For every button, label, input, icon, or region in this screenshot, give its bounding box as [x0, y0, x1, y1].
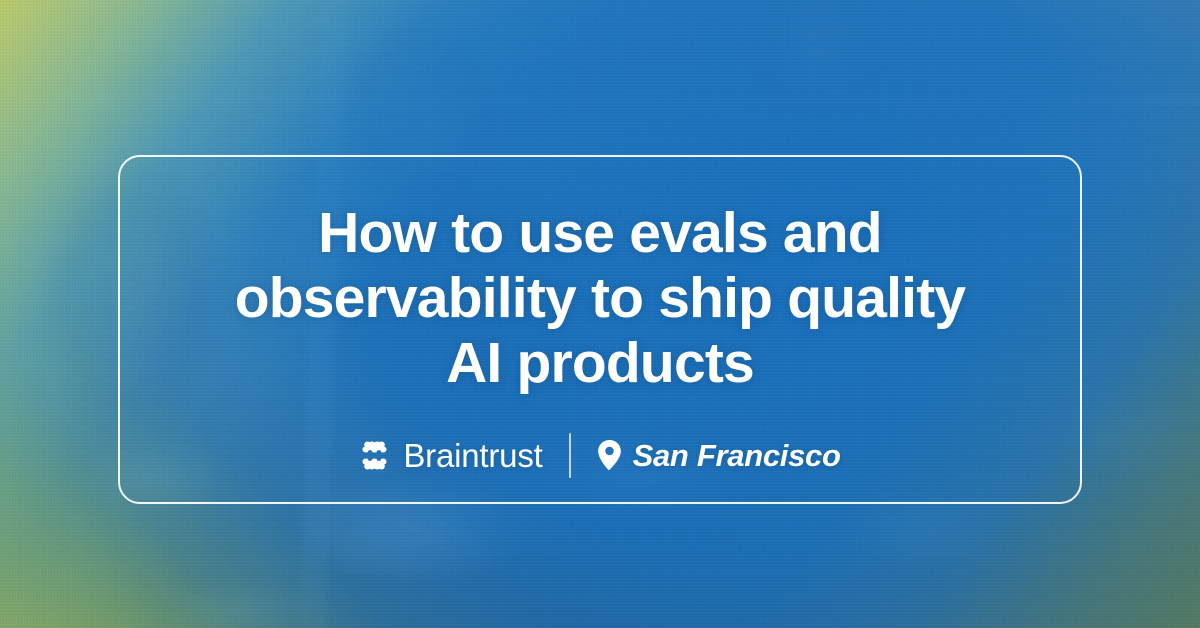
- brand-name-label: Braintrust: [403, 439, 542, 472]
- location-lockup: San Francisco: [597, 440, 841, 471]
- page-title-line-2: observability to ship quality: [162, 266, 1038, 331]
- card-content: How to use evals and observability to sh…: [118, 155, 1082, 504]
- page-title: How to use evals and observability to sh…: [118, 155, 1082, 396]
- location-name-label: San Francisco: [633, 440, 841, 471]
- brand-lockup: Braintrust: [359, 439, 542, 472]
- map-pin-icon: [597, 440, 622, 471]
- braintrust-brain-logo-icon: [359, 440, 390, 471]
- footer-divider: [569, 433, 571, 478]
- card-footer: Braintrust San Francisco: [118, 433, 1082, 478]
- social-share-card: How to use evals and observability to sh…: [0, 0, 1200, 628]
- page-title-line-3: AI products: [162, 331, 1038, 396]
- page-title-line-1: How to use evals and: [162, 201, 1038, 266]
